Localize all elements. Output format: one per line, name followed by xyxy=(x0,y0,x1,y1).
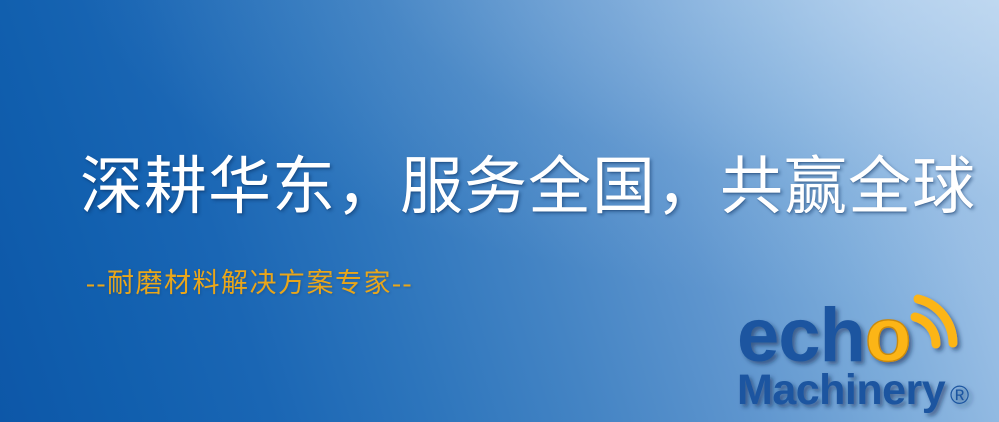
banner-subtitle: --耐磨材料解决方案专家-- xyxy=(86,265,413,301)
banner-headline: 深耕华东，服务全国，共赢全球 xyxy=(80,148,976,226)
logo-artwork: ech o Machinery ® xyxy=(731,288,993,420)
echo-machinery-logo: ech o Machinery ® xyxy=(731,288,993,420)
signal-arcs-icon xyxy=(915,299,953,344)
logo-tagline: Machinery xyxy=(737,366,946,414)
registered-trademark-icon: ® xyxy=(950,380,969,410)
promotional-banner: 深耕华东，服务全国，共赢全球 --耐磨材料解决方案专家-- ech o Mach… xyxy=(0,0,999,422)
